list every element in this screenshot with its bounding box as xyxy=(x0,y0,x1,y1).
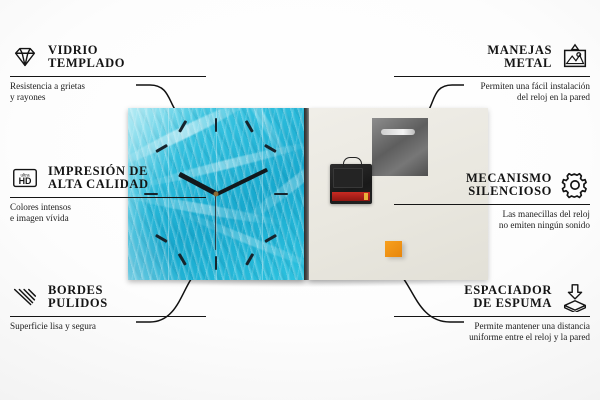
feature-description: Permiten una fácil instalación del reloj… xyxy=(394,81,590,104)
feature-header: MANEJAS METAL xyxy=(394,42,590,72)
clock-tick xyxy=(264,234,277,243)
mechanism-hook xyxy=(343,157,362,167)
feature-vidrio-templado: VIDRIO TEMPLADO Resistencia a grietas y … xyxy=(10,42,206,104)
mechanism-panel xyxy=(333,168,363,188)
feature-header: BORDES PULIDOS xyxy=(10,282,206,312)
feature-espaciador-espuma: ESPACIADOR DE ESPUMA Permite mantener un… xyxy=(394,282,590,344)
feature-header: VIDRIO TEMPLADO xyxy=(10,42,206,72)
feature-divider xyxy=(394,316,590,317)
feature-description: Colores intensos e imagen vívida xyxy=(10,202,206,225)
glass-seam xyxy=(262,108,263,280)
wall-hanger-icon xyxy=(560,42,590,72)
clock-minute-hand xyxy=(216,168,268,196)
feature-divider xyxy=(394,76,590,77)
feature-impresion-alta-calidad: ultra HD IMPRESIÓN DE ALTA CALIDAD Color… xyxy=(10,163,206,225)
gear-icon xyxy=(560,170,590,200)
feature-bordes-pulidos: BORDES PULIDOS Superficie lisa y segura xyxy=(10,282,206,332)
feature-title: BORDES PULIDOS xyxy=(48,284,108,311)
clock-center-hub xyxy=(214,192,219,197)
foam-spacer-pad xyxy=(385,241,402,257)
metal-wall-hanger xyxy=(372,118,428,176)
clock-tick xyxy=(215,118,218,132)
clock-mechanism xyxy=(330,164,372,204)
feature-title: MECANISMO SILENCIOSO xyxy=(466,172,552,199)
diamond-icon xyxy=(10,42,40,72)
infographic-canvas: VIDRIO TEMPLADO Resistencia a grietas y … xyxy=(0,0,600,400)
feature-description: Las manecillas del reloj no emiten ningú… xyxy=(394,209,590,232)
feature-description: Resistencia a grietas y rayones xyxy=(10,81,206,104)
feature-header: ultra HD IMPRESIÓN DE ALTA CALIDAD xyxy=(10,163,206,193)
feature-divider xyxy=(394,204,590,205)
hanger-slot xyxy=(381,129,415,135)
clock-tick xyxy=(274,193,288,196)
clock-tick xyxy=(245,253,254,266)
feature-divider xyxy=(10,197,206,198)
feature-description: Superficie lisa y segura xyxy=(10,321,206,332)
battery xyxy=(332,192,370,201)
feature-divider xyxy=(10,76,206,77)
clock-tick xyxy=(245,120,254,133)
feature-title: VIDRIO TEMPLADO xyxy=(48,44,125,71)
battery-terminal xyxy=(364,193,368,200)
ultra-hd-icon: ultra HD xyxy=(10,163,40,193)
feature-manejas-metal: MANEJAS METAL Permiten una fácil instala… xyxy=(394,42,590,104)
feature-description: Permite mantener una distancia uniforme … xyxy=(394,321,590,344)
feature-divider xyxy=(10,316,206,317)
svg-text:HD: HD xyxy=(19,176,32,186)
feature-mecanismo-silencioso: MECANISMO SILENCIOSO Las manecillas del … xyxy=(394,170,590,232)
feature-title: ESPACIADOR DE ESPUMA xyxy=(464,284,552,311)
feature-header: ESPACIADOR DE ESPUMA xyxy=(394,282,590,312)
clock-tick xyxy=(178,253,187,266)
foam-spacer-icon xyxy=(560,282,590,312)
feature-header: MECANISMO SILENCIOSO xyxy=(394,170,590,200)
clock-tick xyxy=(215,256,218,270)
feature-title: MANEJAS METAL xyxy=(487,44,552,71)
clock-tick xyxy=(155,234,168,243)
feature-title: IMPRESIÓN DE ALTA CALIDAD xyxy=(48,165,149,192)
polished-edges-icon xyxy=(10,282,40,312)
